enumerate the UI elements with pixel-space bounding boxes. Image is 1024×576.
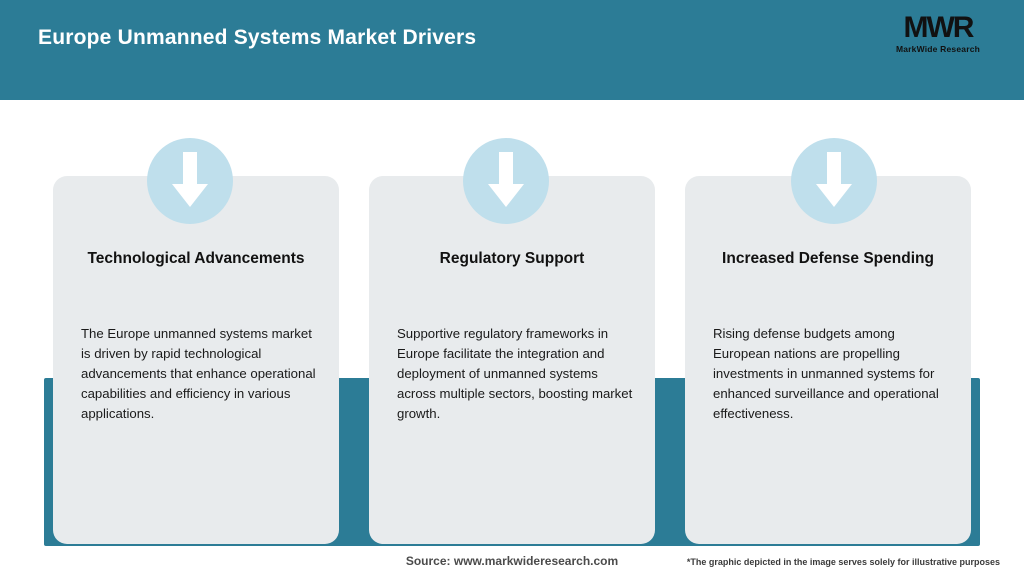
header-bar: Europe Unmanned Systems Market Drivers M…: [0, 0, 1024, 100]
driver-card-2-icon-circle: [463, 138, 549, 224]
slide-root: Europe Unmanned Systems Market Drivers M…: [0, 0, 1024, 576]
disclaimer-text: *The graphic depicted in the image serve…: [687, 557, 1000, 567]
logo: MWR MarkWide Research Inspiring Growth: [878, 12, 998, 70]
page-title: Europe Unmanned Systems Market Drivers: [38, 26, 476, 50]
driver-card-1-title: Technological Advancements: [53, 250, 339, 268]
driver-card-1-icon-circle: [147, 138, 233, 224]
down-arrow-icon: [170, 152, 210, 210]
driver-card-2-title: Regulatory Support: [369, 250, 655, 268]
driver-card-3-title: Increased Defense Spending: [685, 250, 971, 268]
driver-card-1: Technological Advancements The Europe un…: [53, 176, 339, 544]
down-arrow-icon: [814, 152, 854, 210]
down-arrow-icon: [486, 152, 526, 210]
logo-mark: MWR: [878, 12, 998, 44]
driver-card-1-body: The Europe unmanned systems market is dr…: [81, 324, 323, 424]
logo-tagline: Inspiring Growth: [878, 54, 998, 63]
driver-card-3-icon-circle: [791, 138, 877, 224]
driver-card-2: Regulatory Support Supportive regulatory…: [369, 176, 655, 544]
driver-card-3-body: Rising defense budgets among European na…: [713, 324, 955, 424]
driver-card-2-body: Supportive regulatory frameworks in Euro…: [397, 324, 639, 424]
logo-name: MarkWide Research: [878, 44, 998, 54]
driver-card-3: Increased Defense Spending Rising defens…: [685, 176, 971, 544]
